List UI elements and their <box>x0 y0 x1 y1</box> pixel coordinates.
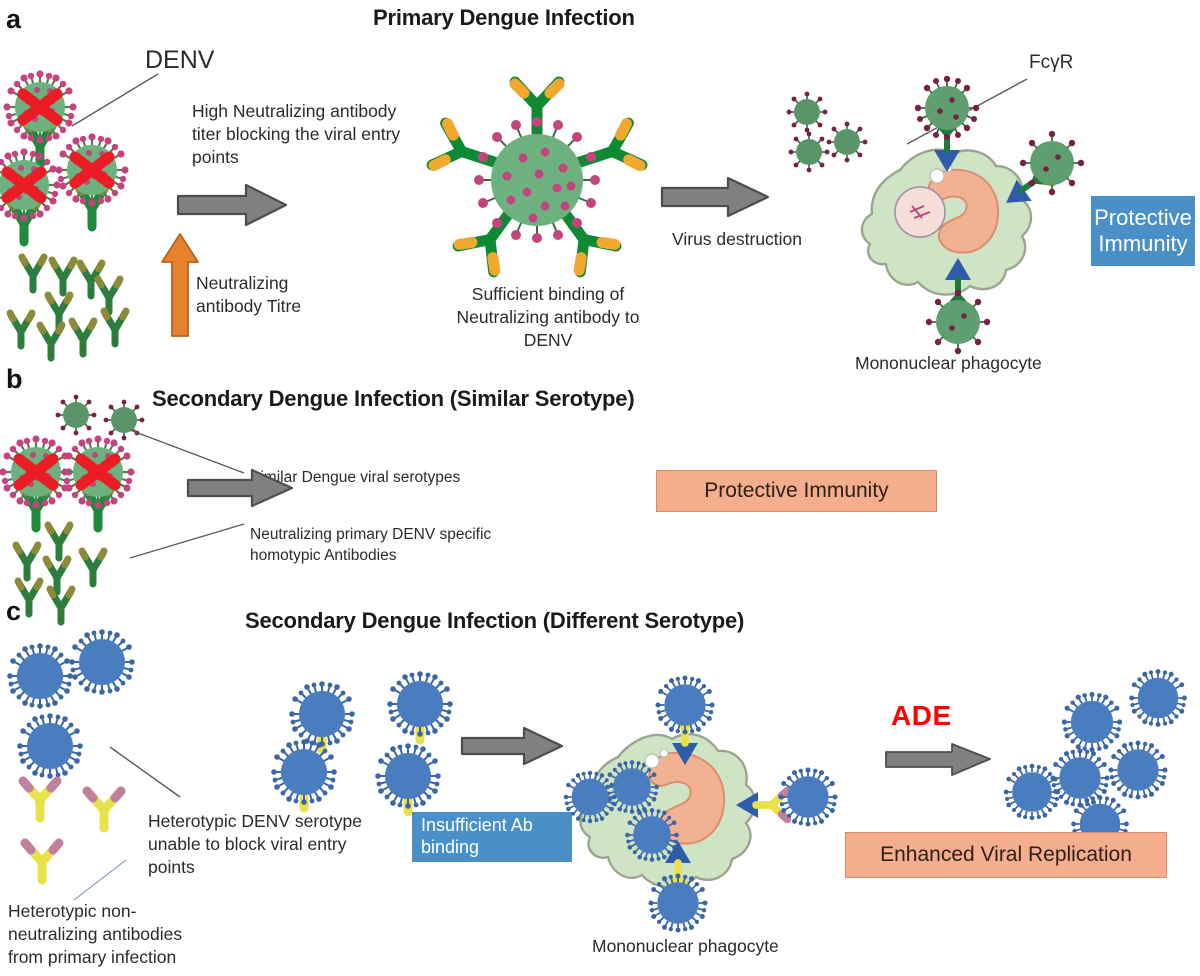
high-titer-caption: High Neutralizing antibody titer blockin… <box>192 100 420 169</box>
panel-c-title: Secondary Dengue Infection (Different Se… <box>245 608 744 634</box>
panel-letter-b: b <box>6 366 23 393</box>
protective-immunity-badge-a: Protective Immunity <box>1091 196 1195 266</box>
arrow-right-a2 <box>660 176 770 222</box>
mononuclear-phagocyte-c <box>560 645 850 935</box>
homotypic-antibodies-leader-line <box>128 522 248 564</box>
blue-virus-antibody-complex-group <box>280 650 470 810</box>
homotypic-antibody-group <box>8 520 148 620</box>
virus-destruction-caption: Virus destruction <box>672 228 802 251</box>
arrow-right-b <box>186 468 294 512</box>
panel-letter-a: a <box>6 6 21 33</box>
mononuclear-phagocyte-label-a: Mononuclear phagocyte <box>855 352 1042 375</box>
sufficient-binding-caption: Sufficient binding of Neutralizing antib… <box>448 283 648 352</box>
heterotypic-nonneutralizing-leader-line <box>72 858 132 904</box>
arrow-right-c1 <box>460 726 564 770</box>
neutralizing-titre-caption: Neutralizing antibody Titre <box>196 272 336 318</box>
mononuclear-phagocyte-a <box>840 60 1090 360</box>
free-neutralizing-antibody-group <box>2 250 170 362</box>
panel-a-title: Primary Dengue Infection <box>373 5 635 31</box>
dengue-ade-figure: a Primary Dengue Infection DENV <box>0 0 1200 976</box>
heterotypic-unable-caption: Heterotypic DENV serotype unable to bloc… <box>148 810 363 879</box>
blocked-virus-complex-group-a <box>2 62 172 247</box>
ade-label: ADE <box>891 700 952 732</box>
panel-b-title: Secondary Dengue Infection (Similar Sero… <box>152 386 634 412</box>
replicated-virus-group <box>1000 660 1200 840</box>
arrow-right-a1 <box>176 183 288 231</box>
panel-letter-c: c <box>6 598 21 625</box>
heterotypic-nonneutralizing-caption: Heterotypic non-neutralizing antibodies … <box>8 900 208 969</box>
heterotypic-unable-leader-line <box>108 745 188 805</box>
protective-immunity-badge-b: Protective Immunity <box>656 470 937 512</box>
enhanced-viral-replication-badge: Enhanced Viral Replication <box>845 832 1167 878</box>
insufficient-ab-binding-badge: Insufficient Ab binding <box>412 812 572 862</box>
homotypic-antibodies-caption: Neutralizing primary DENV specific homot… <box>250 525 510 567</box>
virus-antibody-cluster <box>432 80 642 275</box>
arrow-right-c2 <box>884 742 994 778</box>
mononuclear-phagocyte-label-c: Mononuclear phagocyte <box>592 935 779 958</box>
